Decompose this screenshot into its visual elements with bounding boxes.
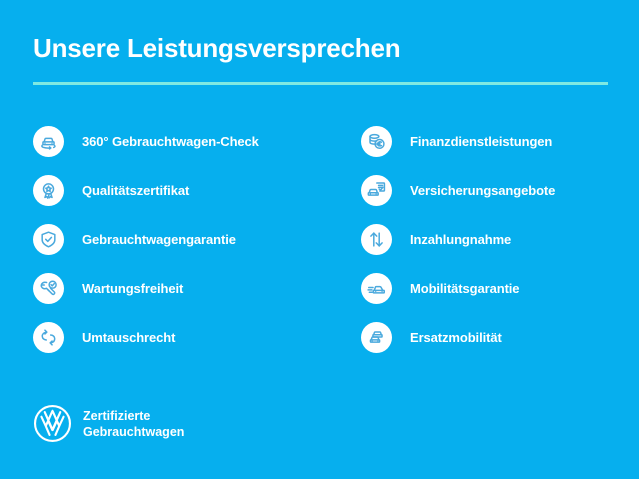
benefit-label: Ersatzmobilität [410,330,502,345]
footer-line-2: Gebrauchtwagen [83,425,184,439]
benefit-label: Mobilitätsgarantie [410,281,519,296]
benefits-panel: Unsere Leistungsversprechen 360° Gebrauc… [0,0,639,479]
benefit-item-mobilitaetsgarantie[interactable]: Mobilitätsgarantie [361,273,639,304]
award-rosette-icon [33,175,64,206]
benefit-label: Wartungsfreiheit [82,281,183,296]
benefit-label: Qualitätszertifikat [82,183,189,198]
up-down-arrows-icon [361,224,392,255]
car-motion-icon [361,273,392,304]
exchange-arrows-icon [33,322,64,353]
page-title: Unsere Leistungsversprechen [33,33,400,64]
benefit-label: 360° Gebrauchtwagen-Check [82,134,259,149]
footer-brand: Zertifizierte Gebrauchtwagen [33,404,184,443]
title-divider [33,82,608,85]
benefit-label: Finanzdienstleistungen [410,134,552,149]
coins-euro-icon [361,126,392,157]
benefit-item-360-check[interactable]: 360° Gebrauchtwagen-Check [33,126,323,157]
benefit-label: Gebrauchtwagengarantie [82,232,236,247]
footer-line-1: Zertifizierte [83,409,150,423]
benefits-left-column: 360° Gebrauchtwagen-Check Qualitätszerti… [33,126,323,371]
benefit-item-gebrauchtwagengarantie[interactable]: Gebrauchtwagengarantie [33,224,323,255]
car-360-check-icon [33,126,64,157]
benefit-item-finanzdienstleistungen[interactable]: Finanzdienstleistungen [361,126,639,157]
benefit-item-inzahlungnahme[interactable]: Inzahlungnahme [361,224,639,255]
benefit-item-versicherungsangebote[interactable]: Versicherungsangebote [361,175,639,206]
car-document-check-icon [361,175,392,206]
benefit-item-ersatzmobilitaet[interactable]: Ersatzmobilität [361,322,639,353]
benefit-label: Versicherungsangebote [410,183,555,198]
benefit-item-wartungsfreiheit[interactable]: Wartungsfreiheit [33,273,323,304]
shield-check-icon [33,224,64,255]
benefit-label: Umtauschrecht [82,330,175,345]
benefits-right-column: Finanzdienstleistungen Versicherungsange… [361,126,639,371]
wrench-check-icon [33,273,64,304]
footer-brand-text: Zertifizierte Gebrauchtwagen [83,408,184,440]
benefit-label: Inzahlungnahme [410,232,511,247]
volkswagen-logo [33,404,72,443]
benefit-item-qualitaetszertifikat[interactable]: Qualitätszertifikat [33,175,323,206]
two-cars-icon [361,322,392,353]
benefit-item-umtauschrecht[interactable]: Umtauschrecht [33,322,323,353]
